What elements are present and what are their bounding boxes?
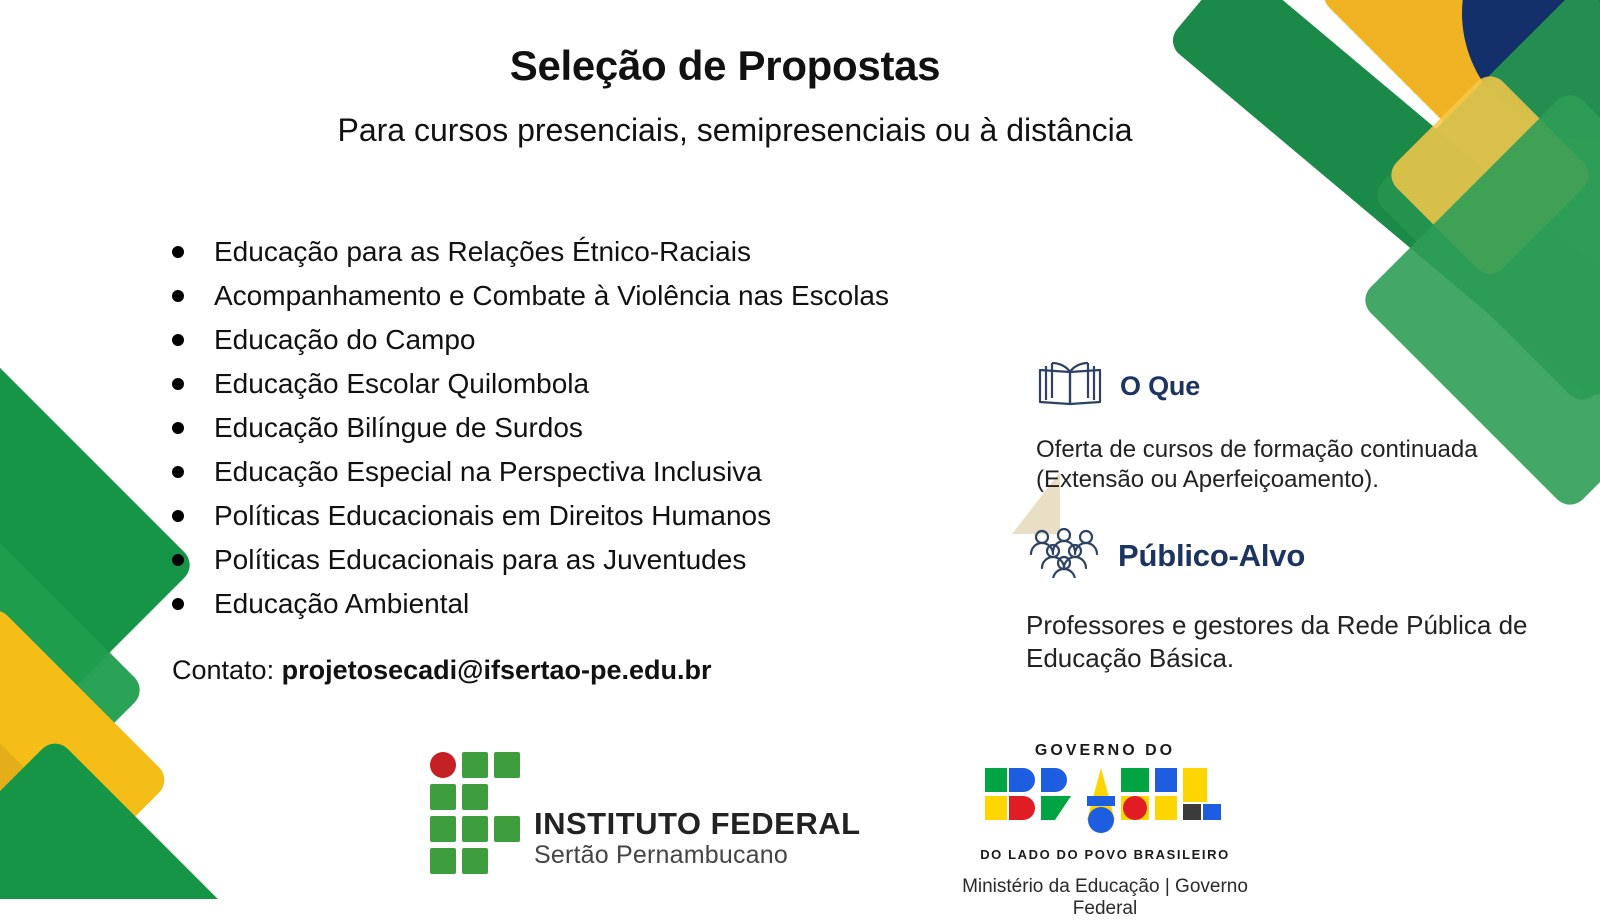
list-item: Educação para as Relações Étnico-Raciais bbox=[172, 230, 1032, 274]
contact-label: Contato: bbox=[172, 655, 274, 685]
bullet-dot-icon bbox=[172, 334, 184, 346]
poster-page: Seleção de Propostas Para cursos presenc… bbox=[0, 0, 1600, 899]
bullet-dot-icon bbox=[172, 554, 184, 566]
list-item: Educação Bilíngue de Surdos bbox=[172, 406, 1032, 450]
gov-logo-bottom-line: DO LADO DO POVO BRASILEIRO bbox=[930, 847, 1280, 862]
if-logo-name: INSTITUTO FEDERAL bbox=[534, 808, 861, 841]
instituto-federal-logo: INSTITUTO FEDERAL Sertão Pernambucano bbox=[430, 752, 861, 874]
if-logo-cell bbox=[462, 816, 488, 842]
list-item: Políticas Educacionais em Direitos Human… bbox=[172, 494, 1032, 538]
if-logo-grid-icon bbox=[430, 752, 520, 874]
list-item: Educação Escolar Quilombola bbox=[172, 362, 1032, 406]
bullet-dot-icon bbox=[172, 246, 184, 258]
list-item-label: Educação Escolar Quilombola bbox=[214, 370, 589, 398]
list-item: Políticas Educacionais para as Juventude… bbox=[172, 538, 1032, 582]
people-group-icon bbox=[1026, 528, 1102, 583]
list-item-label: Educação Bilíngue de Surdos bbox=[214, 414, 583, 442]
page-title: Seleção de Propostas bbox=[0, 42, 1450, 90]
if-logo-cell bbox=[462, 848, 488, 874]
list-item: Educação Ambiental bbox=[172, 582, 1032, 626]
bullet-dot-icon bbox=[172, 378, 184, 390]
list-item-label: Acompanhamento e Combate à Violência nas… bbox=[214, 282, 889, 310]
list-item-label: Educação Ambiental bbox=[214, 590, 469, 618]
if-logo-cell bbox=[494, 752, 520, 778]
info-block-o-que: O Que Oferta de cursos de formação conti… bbox=[1036, 360, 1478, 495]
if-logo-cell bbox=[430, 784, 456, 810]
info-heading-label: O Que bbox=[1120, 371, 1200, 402]
if-logo-text: INSTITUTO FEDERAL Sertão Pernambucano bbox=[534, 808, 861, 874]
list-item: Educação Especial na Perspectiva Inclusi… bbox=[172, 450, 1032, 494]
info-body-text: Oferta de cursos de formação continuada … bbox=[1036, 435, 1478, 495]
if-logo-cell bbox=[462, 752, 488, 778]
info-heading-row: O Que bbox=[1036, 360, 1478, 413]
list-item: Acompanhamento e Combate à Violência nas… bbox=[172, 274, 1032, 318]
if-logo-cell bbox=[494, 816, 520, 842]
if-logo-cell bbox=[494, 784, 520, 810]
open-book-icon bbox=[1036, 360, 1104, 413]
info-heading-row: Público-Alvo bbox=[1026, 528, 1528, 583]
list-item-label: Políticas Educacionais em Direitos Human… bbox=[214, 502, 771, 530]
gov-logo-top-line: GOVERNO DO bbox=[930, 742, 1280, 760]
contact-line: Contato: projetosecadi@ifsertao-pe.edu.b… bbox=[172, 655, 712, 686]
gov-logo-ministry-line: Ministério da Educação | Governo Federal bbox=[930, 876, 1280, 920]
if-logo-cell bbox=[430, 848, 456, 874]
bullet-dot-icon bbox=[172, 290, 184, 302]
governo-do-brasil-logo: GOVERNO DO bbox=[930, 742, 1280, 920]
if-logo-cell bbox=[430, 752, 456, 778]
if-logo-cell bbox=[430, 816, 456, 842]
info-heading-label: Público-Alvo bbox=[1118, 538, 1305, 574]
list-item-label: Educação do Campo bbox=[214, 326, 476, 354]
bullet-dot-icon bbox=[172, 466, 184, 478]
bullet-dot-icon bbox=[172, 422, 184, 434]
topics-list: Educação para as Relações Étnico-Raciais… bbox=[172, 230, 1032, 626]
contact-email[interactable]: projetosecadi@ifsertao-pe.edu.br bbox=[282, 655, 712, 685]
bullet-dot-icon bbox=[172, 598, 184, 610]
info-body-text: Professores e gestores da Rede Pública d… bbox=[1026, 609, 1528, 674]
brasil-wordmark-icon bbox=[930, 766, 1280, 843]
if-logo-cell bbox=[494, 848, 520, 874]
list-item-label: Educação Especial na Perspectiva Inclusi… bbox=[214, 458, 762, 486]
list-item-label: Educação para as Relações Étnico-Raciais bbox=[214, 238, 751, 266]
if-logo-cell bbox=[462, 784, 488, 810]
list-item: Educação do Campo bbox=[172, 318, 1032, 362]
if-logo-campus: Sertão Pernambucano bbox=[534, 841, 861, 870]
list-item-label: Políticas Educacionais para as Juventude… bbox=[214, 546, 746, 574]
page-subtitle: Para cursos presenciais, semipresenciais… bbox=[0, 112, 1470, 149]
bullet-dot-icon bbox=[172, 510, 184, 522]
info-block-publico-alvo: Público-Alvo Professores e gestores da R… bbox=[1026, 528, 1528, 674]
